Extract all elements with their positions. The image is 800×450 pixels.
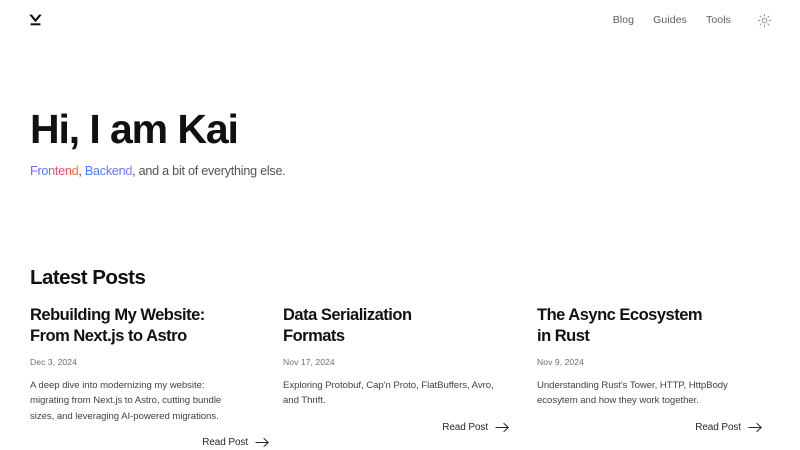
hero-subtitle-frontend: Frontend	[30, 164, 78, 178]
post-card: The Async Ecosystem in Rust Nov 9, 2024 …	[537, 305, 776, 448]
post-card: Data Serialization Formats Nov 17, 2024 …	[283, 305, 537, 448]
nav-link-guides[interactable]: Guides	[653, 14, 687, 26]
latest-posts-list: Rebuilding My Website: From Next.js to A…	[30, 305, 776, 448]
page-title: Hi, I am Kai	[30, 104, 770, 154]
arrow-right-icon	[748, 422, 763, 433]
read-post-link[interactable]: Read Post	[695, 422, 763, 433]
read-post-label: Read Post	[442, 422, 488, 433]
hero-subtitle: Frontend, Backend, and a bit of everythi…	[30, 162, 770, 180]
post-excerpt: Understanding Rust's Tower, HTTP, HttpBo…	[537, 378, 755, 409]
page-root: Blog Guides Tools	[0, 0, 800, 450]
read-post-link[interactable]: Read Post	[442, 422, 510, 433]
nav-link-tools[interactable]: Tools	[706, 14, 731, 26]
read-post-link[interactable]: Read Post	[202, 437, 270, 448]
post-title[interactable]: The Async Ecosystem in Rust	[537, 305, 717, 347]
sun-icon	[757, 13, 772, 28]
hero-subtitle-backend: Backend	[85, 164, 132, 178]
post-title[interactable]: Rebuilding My Website: From Next.js to A…	[30, 305, 245, 347]
post-excerpt: A deep dive into modernizing my website:…	[30, 378, 246, 424]
post-date: Nov 17, 2024	[283, 356, 537, 368]
main-nav: Blog Guides Tools	[613, 12, 772, 28]
post-date: Nov 9, 2024	[537, 356, 776, 368]
post-date: Dec 3, 2024	[30, 356, 283, 368]
hero-subtitle-rest: , and a bit of everything else.	[132, 164, 285, 178]
post-excerpt: Exploring Protobuf, Cap'n Proto, FlatBuf…	[283, 378, 495, 409]
arrow-right-icon	[255, 437, 270, 448]
read-post-label: Read Post	[202, 437, 248, 448]
hero-section: Hi, I am Kai Frontend, Backend, and a bi…	[30, 104, 770, 180]
post-card: Rebuilding My Website: From Next.js to A…	[30, 305, 283, 448]
latest-posts-heading: Latest Posts	[30, 265, 145, 291]
nav-link-blog[interactable]: Blog	[613, 14, 634, 26]
theme-toggle-button[interactable]	[756, 12, 772, 28]
arrow-right-icon	[495, 422, 510, 433]
kai-logo[interactable]	[27, 12, 44, 29]
site-header: Blog Guides Tools	[0, 0, 800, 40]
hero-subtitle-separator: ,	[78, 164, 85, 178]
post-title[interactable]: Data Serialization Formats	[283, 305, 458, 347]
kai-logo-icon	[27, 12, 44, 29]
read-post-label: Read Post	[695, 422, 741, 433]
